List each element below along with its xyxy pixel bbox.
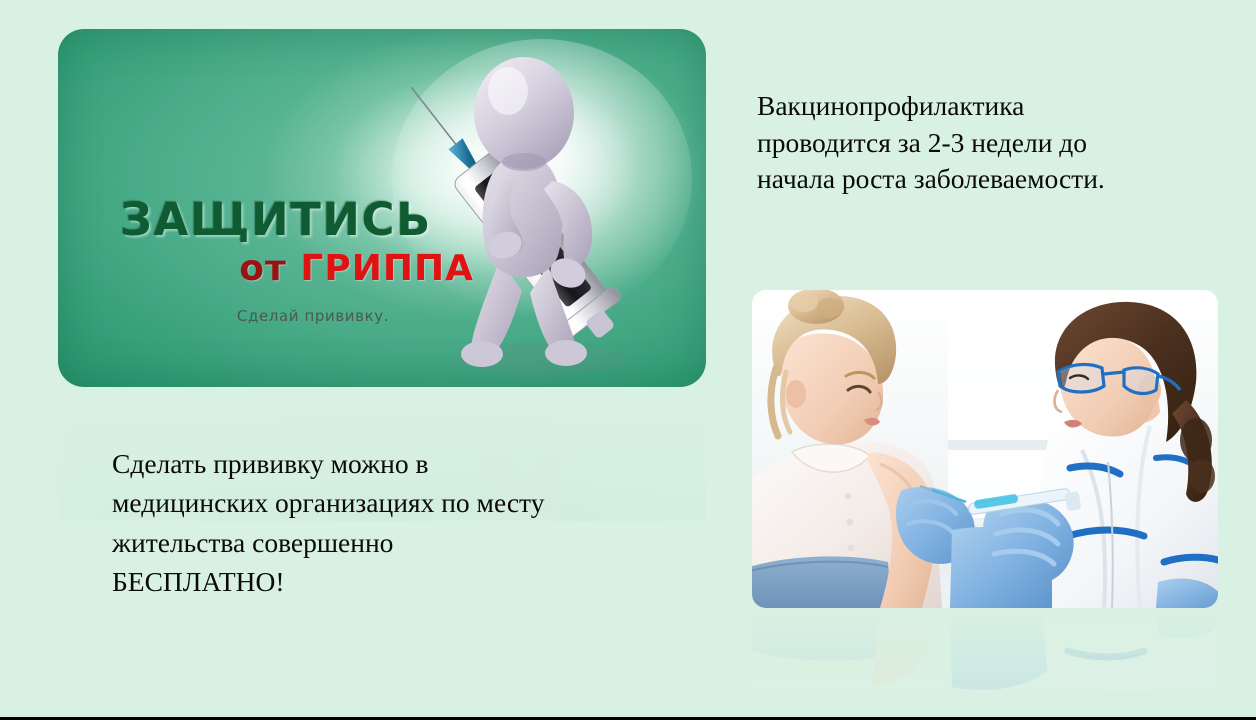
paragraph-where-to-vaccinate: Сделать прививку можно в медицинских орг… xyxy=(112,444,652,601)
photo-reflection xyxy=(752,609,1218,695)
text-line: Сделать прививку можно в xyxy=(112,444,652,483)
poster-headline-sub-word1: от xyxy=(239,248,287,289)
flu-poster-image[interactable]: ЗАЩИТИСЬ от ГРИППА Сделай прививку. xyxy=(58,29,706,387)
poster-headline-block: ЗАЩИТИСЬ от ГРИППА Сделай прививку. xyxy=(120,197,480,325)
text-line: проводится за 2-3 недели до xyxy=(757,125,1197,162)
poster-tagline: Сделай прививку. xyxy=(120,307,480,325)
poster-headline-sub-word2: ГРИППА xyxy=(300,248,474,289)
poster-surface: ЗАЩИТИСЬ от ГРИППА Сделай прививку. xyxy=(58,29,706,387)
text-line: начала роста заболеваемости. xyxy=(757,161,1197,198)
poster-headline-sub: от ГРИППА xyxy=(120,251,480,287)
poster-headline-main: ЗАЩИТИСЬ xyxy=(120,197,480,242)
paragraph-vaccination-timing: Вакцинопрофилактика проводится за 2-3 не… xyxy=(757,88,1197,198)
photo-surface xyxy=(752,290,1218,608)
slide-canvas: ЗАЩИТИСЬ от ГРИППА Сделай прививку. Вакц… xyxy=(0,0,1256,720)
reflected-photo-icon xyxy=(752,609,1218,695)
text-line: БЕСПЛАТНО! xyxy=(112,562,652,601)
vaccination-photo[interactable] xyxy=(752,290,1218,608)
text-line: медицинских организациях по месту xyxy=(112,483,652,522)
nurse-vaccinating-child-photo-illustration xyxy=(752,290,1218,608)
text-line: жительства совершенно xyxy=(112,523,652,562)
text-line: Вакцинопрофилактика xyxy=(757,88,1197,125)
